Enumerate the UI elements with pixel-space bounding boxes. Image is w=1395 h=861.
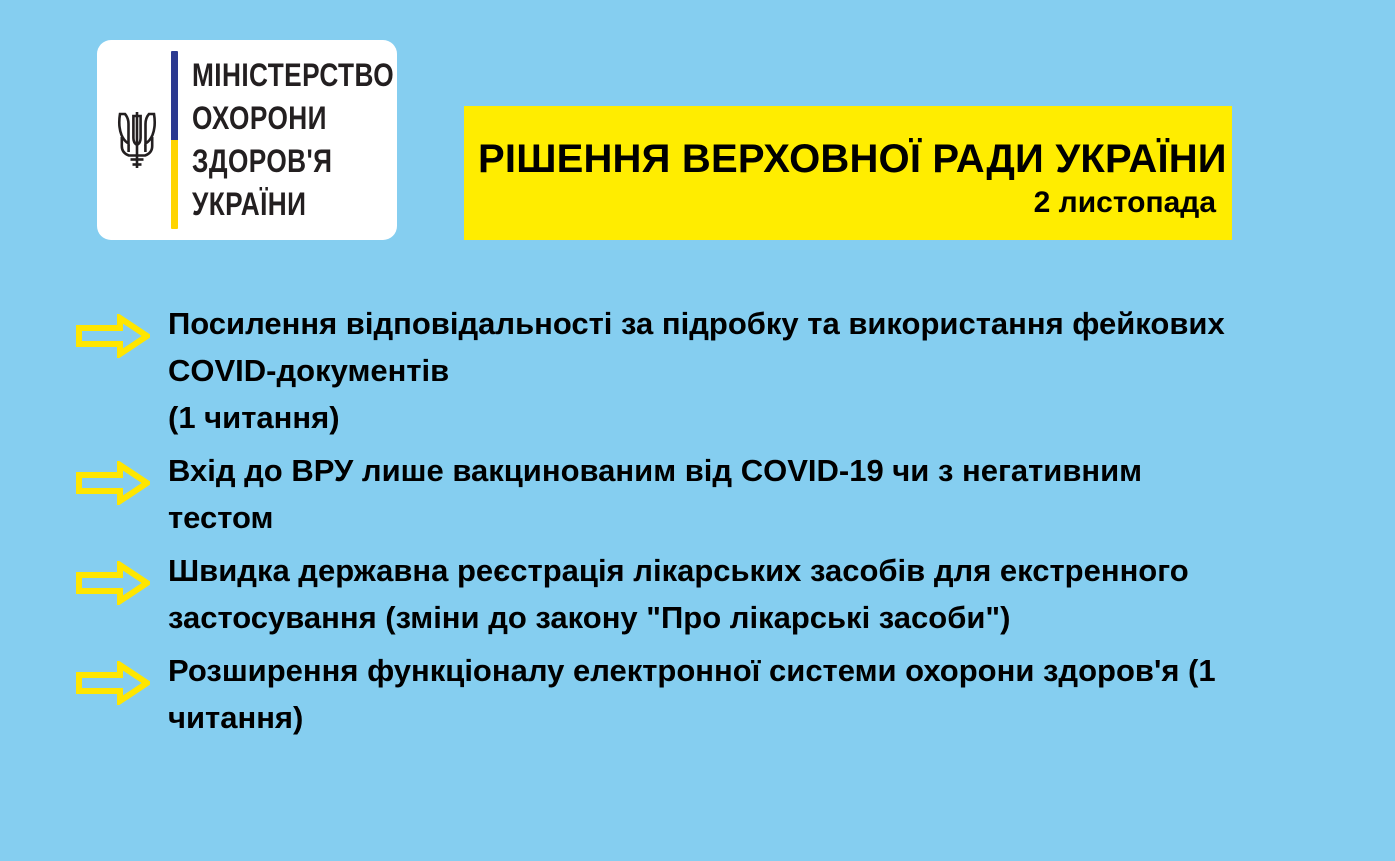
logo-line-1: МІНІСТЕРСТВО bbox=[192, 54, 394, 97]
logo-flag-divider bbox=[171, 51, 178, 229]
list-item-text: Вхід до ВРУ лише вакцинованим від COVID-… bbox=[168, 447, 1248, 541]
list-item-text: Розширення функціоналу електронної систе… bbox=[168, 647, 1248, 741]
title-banner: РІШЕННЯ ВЕРХОВНОЇ РАДИ УКРАЇНИ 2 листопа… bbox=[464, 106, 1232, 240]
arrow-right-icon bbox=[76, 561, 150, 605]
divider-yellow-half bbox=[171, 140, 178, 229]
logo-line-2: ОХОРОНИ bbox=[192, 97, 394, 140]
divider-blue-half bbox=[171, 51, 178, 140]
page-title: РІШЕННЯ ВЕРХОВНОЇ РАДИ УКРАЇНИ bbox=[478, 136, 1218, 182]
list-item: Швидка державна реєстрація лікарських за… bbox=[0, 547, 1395, 641]
arrow-right-icon bbox=[76, 314, 150, 358]
list-item-text: Посилення відповідальності за підробку т… bbox=[168, 300, 1248, 441]
arrow-right-icon bbox=[76, 661, 150, 705]
list-item: Посилення відповідальності за підробку т… bbox=[0, 300, 1395, 441]
ministry-logo-card: МІНІСТЕРСТВО ОХОРОНИ ЗДОРОВ'Я УКРАЇНИ bbox=[97, 40, 397, 240]
ukraine-trident-icon bbox=[109, 108, 165, 172]
page-subtitle-date: 2 листопада bbox=[478, 184, 1218, 222]
bullet-list: Посилення відповідальності за підробку т… bbox=[0, 300, 1395, 747]
list-item: Розширення функціоналу електронної систе… bbox=[0, 647, 1395, 741]
list-item-text: Швидка державна реєстрація лікарських за… bbox=[168, 547, 1248, 641]
logo-line-3: ЗДОРОВ'Я bbox=[192, 140, 394, 183]
header: МІНІСТЕРСТВО ОХОРОНИ ЗДОРОВ'Я УКРАЇНИ РІ… bbox=[0, 0, 1395, 260]
list-item: Вхід до ВРУ лише вакцинованим від COVID-… bbox=[0, 447, 1395, 541]
arrow-right-icon bbox=[76, 461, 150, 505]
ministry-logo-wordmark: МІНІСТЕРСТВО ОХОРОНИ ЗДОРОВ'Я УКРАЇНИ bbox=[192, 54, 438, 226]
logo-line-4: УКРАЇНИ bbox=[192, 183, 394, 226]
